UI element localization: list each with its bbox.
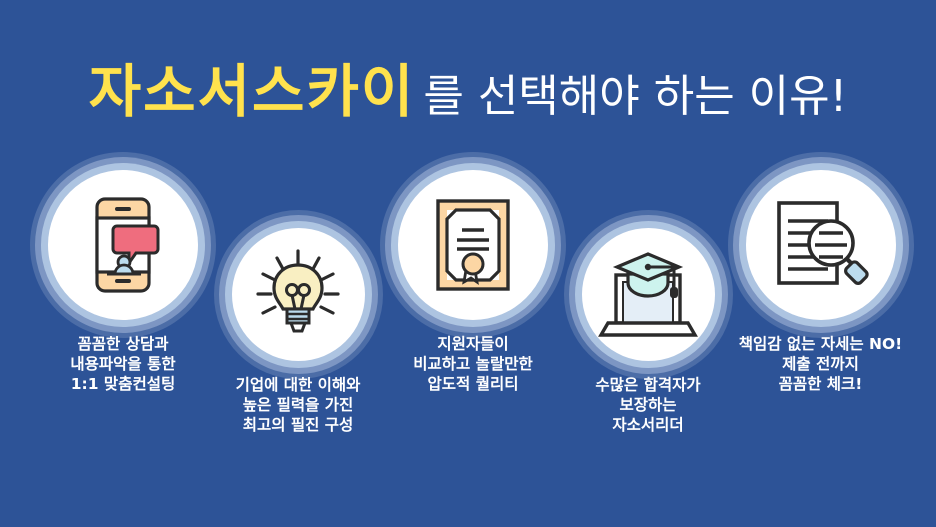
feature-1-circle [48, 170, 198, 320]
feature-item-1: 꼼꼼한 상담과 내용파악을 통한 1:1 맞춤컨설팅 [23, 170, 223, 394]
caption-line: 제출 전까지 [718, 354, 923, 374]
document-magnifier-review-icon [773, 199, 869, 291]
caption-line: 지원자들이 [373, 334, 573, 354]
feature-item-5: 책임감 없는 자세는 NO! 제출 전까지 꼼꼼한 체크! [718, 170, 923, 394]
feature-5-circle [746, 170, 896, 320]
feature-item-2: 기업에 대한 이해와 높은 필력을 가진 최고의 필진 구성 [198, 228, 398, 435]
caption-line: 비교하고 놀랄만한 [373, 354, 573, 374]
caption-line: 보장하는 [548, 395, 748, 415]
caption-line: 꼼꼼한 체크! [718, 374, 923, 394]
caption-line: 높은 필력을 가진 [198, 395, 398, 415]
smartphone-chat-consulting-icon [84, 196, 162, 294]
caption-line: 내용파악을 통한 [23, 354, 223, 374]
certificate-award-icon [435, 198, 511, 292]
caption-line: 최고의 필진 구성 [198, 415, 398, 435]
caption-line: 1:1 맞춤컨설팅 [23, 374, 223, 394]
feature-1-caption: 꼼꼼한 상담과 내용파악을 통한 1:1 맞춤컨설팅 [23, 334, 223, 394]
feature-3-circle [398, 170, 548, 320]
title-rest-text: 를 선택해야 하는 이유! [423, 71, 847, 122]
feature-2-caption: 기업에 대한 이해와 높은 필력을 가진 최고의 필진 구성 [198, 375, 398, 435]
feature-4-circle [582, 228, 715, 361]
title-brand-text: 자소서스카이 [89, 59, 416, 125]
page-title: 자소서스카이를 선택해야 하는 이유! [0, 46, 936, 128]
caption-line: 책임감 없는 자세는 NO! [718, 334, 923, 354]
poster-canvas: 자소서스카이를 선택해야 하는 이유! 꼼꼼한 상담과 내용파악을 통한 [0, 0, 936, 527]
lightbulb-idea-icon [254, 249, 342, 341]
feature-2-circle [232, 228, 365, 361]
laptop-graduation-cap-icon [598, 249, 698, 341]
caption-line: 꼼꼼한 상담과 [23, 334, 223, 354]
caption-line: 자소서리더 [548, 415, 748, 435]
feature-5-caption: 책임감 없는 자세는 NO! 제출 전까지 꼼꼼한 체크! [718, 334, 923, 394]
caption-line: 기업에 대한 이해와 [198, 375, 398, 395]
caption-line: 압도적 퀄리티 [373, 374, 573, 394]
feature-item-3: 지원자들이 비교하고 놀랄만한 압도적 퀄리티 [373, 170, 573, 394]
feature-3-caption: 지원자들이 비교하고 놀랄만한 압도적 퀄리티 [373, 334, 573, 394]
